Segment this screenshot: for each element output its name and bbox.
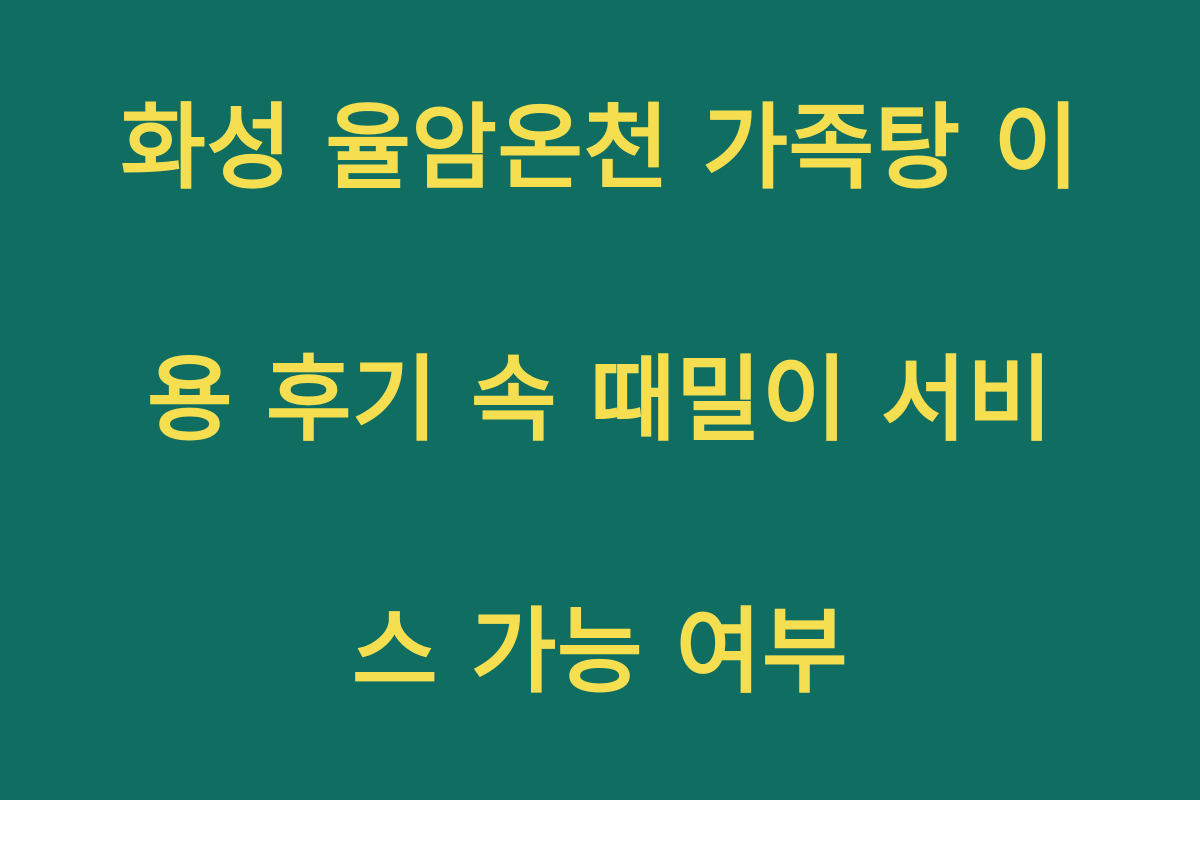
page-title: 화성 율암온천 가족탕 이 용 후기 속 때밀이 서비 스 가능 여부 xyxy=(70,0,1130,841)
banner-canvas: 화성 율암온천 가족탕 이 용 후기 속 때밀이 서비 스 가능 여부 xyxy=(0,0,1200,800)
headline-line-3: 스 가능 여부 xyxy=(70,589,1130,715)
headline-line-1: 화성 율암온천 가족탕 이 xyxy=(70,85,1130,211)
headline-line-2: 용 후기 속 때밀이 서비 xyxy=(70,337,1130,463)
